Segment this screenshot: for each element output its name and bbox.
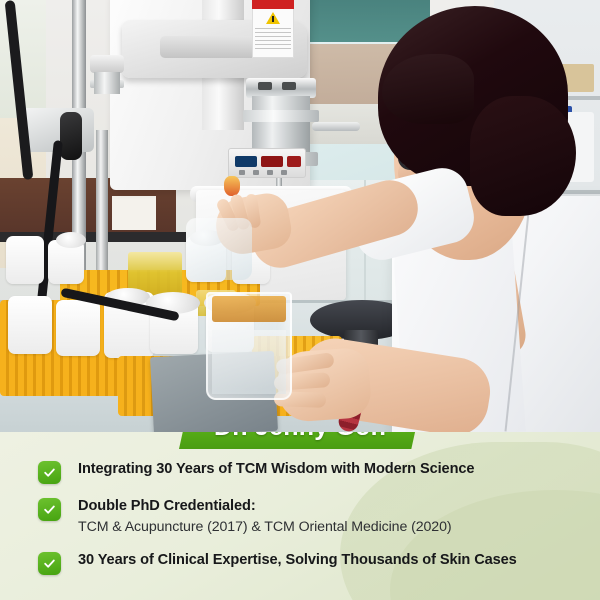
- display-blue: [235, 156, 257, 167]
- check-icon: [38, 498, 61, 521]
- doctor-name: Dr. Jenny Goh: [214, 432, 386, 442]
- list-item-subtitle: TCM & Acupuncture (2017) & TCM Oriental …: [78, 517, 452, 538]
- warning-label-band: [252, 0, 294, 9]
- beaker-lower-contents: [212, 330, 286, 394]
- list-item-title: Double PhD Credentialed:: [78, 497, 452, 515]
- control-knob: [281, 170, 287, 175]
- list-item: Integrating 30 Years of TCM Wisdom with …: [38, 460, 578, 484]
- warning-label-text: [255, 28, 291, 50]
- list-item-text: 30 Years of Clinical Expertise, Solving …: [78, 551, 517, 569]
- warning-triangle-icon: [266, 12, 280, 24]
- mixer-ring: [243, 110, 319, 122]
- credentials-panel: Dr. Jenny Goh Integrating 30 Years of TC…: [0, 432, 600, 600]
- control-knob: [253, 170, 259, 175]
- laboratory-photo: [0, 0, 600, 434]
- jar-lid: [56, 232, 86, 248]
- check-icon: [38, 552, 61, 575]
- shelf-paper: [112, 196, 156, 230]
- sample-jar: [56, 300, 100, 356]
- secondary-head-barrel: [94, 72, 120, 94]
- list-item-text: Double PhD Credentialed: TCM & Acupunctu…: [78, 497, 452, 538]
- name-banner: Dr. Jenny Goh: [179, 432, 421, 449]
- name-banner-wrap: Dr. Jenny Goh: [0, 432, 600, 451]
- mixer-head-lip: [160, 36, 265, 58]
- sample-jar: [6, 236, 44, 284]
- mixer-clamp-top: [246, 78, 316, 98]
- sample-jar: [8, 296, 52, 354]
- profile-card: Dr. Jenny Goh Integrating 30 Years of TC…: [0, 0, 600, 600]
- mixer-vent: [258, 82, 272, 90]
- orange-object: [224, 176, 240, 196]
- secondary-head: [90, 55, 124, 73]
- beaker-amber-contents: [212, 296, 286, 322]
- clamp-handle: [60, 112, 82, 160]
- check-icon: [38, 461, 61, 484]
- control-knob: [267, 170, 273, 175]
- list-item-title: 30 Years of Clinical Expertise, Solving …: [78, 551, 517, 569]
- display-red-small: [287, 156, 301, 167]
- mixer-vent: [282, 82, 296, 90]
- plastic-bag: [186, 218, 252, 280]
- display-red: [261, 156, 283, 167]
- control-knob: [239, 170, 245, 175]
- list-item-text: Integrating 30 Years of TCM Wisdom with …: [78, 460, 474, 478]
- list-item-title: Integrating 30 Years of TCM Wisdom with …: [78, 460, 474, 478]
- control-panel: [228, 148, 306, 178]
- hair-fringe: [382, 54, 474, 124]
- list-item: Double PhD Credentialed: TCM & Acupunctu…: [38, 497, 578, 538]
- list-item: 30 Years of Clinical Expertise, Solving …: [38, 551, 578, 575]
- mixer-arm: [312, 122, 360, 131]
- credentials-list: Integrating 30 Years of TCM Wisdom with …: [38, 460, 578, 588]
